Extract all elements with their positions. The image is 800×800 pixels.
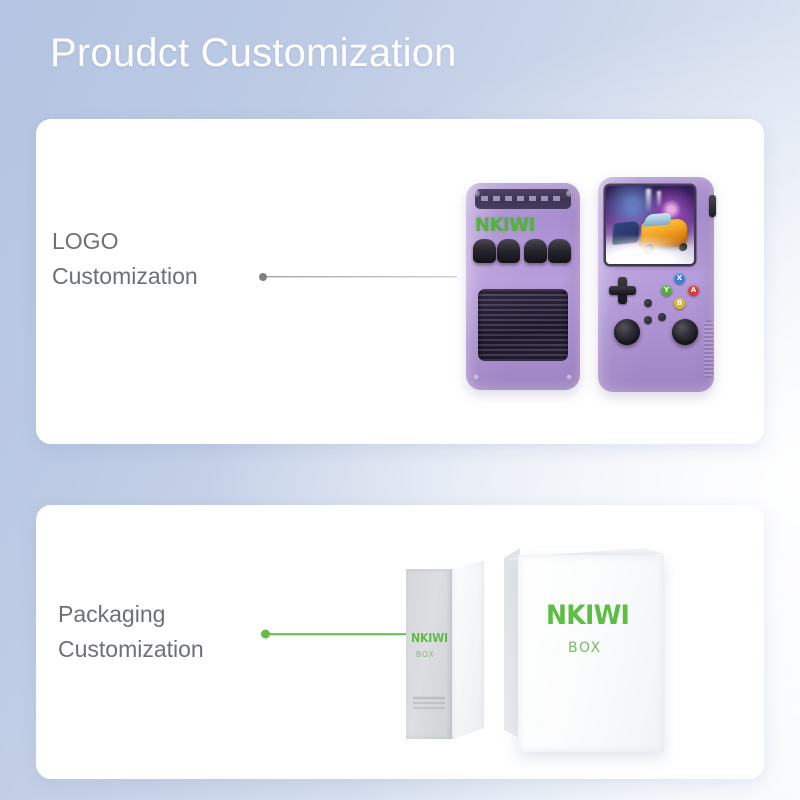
connector-logo bbox=[259, 270, 457, 284]
start-button bbox=[644, 316, 652, 324]
connector-logo-line bbox=[264, 276, 457, 277]
button-x: X bbox=[674, 273, 685, 284]
console-product-group: NKIWI bbox=[452, 173, 720, 401]
label-logo-line1: LOGO bbox=[52, 224, 198, 259]
label-packaging-customization: Packaging Customization bbox=[58, 597, 204, 667]
connector-packaging bbox=[261, 627, 413, 641]
page-title: Proudct Customization bbox=[50, 31, 457, 76]
small-box-side-panel bbox=[452, 561, 484, 739]
screen-game-artwork bbox=[606, 186, 694, 264]
console-front-unit: X Y A B bbox=[598, 177, 714, 392]
label-packaging-line1: Packaging bbox=[58, 597, 204, 632]
screw-bottom-right bbox=[566, 374, 573, 381]
analog-stick-right bbox=[672, 319, 698, 345]
screw-top-right bbox=[566, 190, 573, 197]
side-shoulder-button bbox=[709, 195, 716, 217]
small-box-logo-text: NKIWI bbox=[411, 631, 448, 645]
console-back-unit: NKIWI bbox=[466, 183, 580, 390]
analog-stick-left bbox=[614, 319, 640, 345]
small-box-fine-print bbox=[413, 697, 445, 710]
small-box-subtitle: BOX bbox=[416, 650, 435, 659]
console-screen bbox=[606, 186, 694, 264]
screw-bottom-left bbox=[473, 374, 480, 381]
package-box-small: NKIWI BOX bbox=[406, 569, 484, 739]
neon-streak-a bbox=[646, 189, 651, 212]
connector-packaging-line bbox=[266, 633, 413, 635]
screw-top-left bbox=[473, 190, 480, 197]
select-button bbox=[658, 313, 666, 321]
button-b: B bbox=[674, 298, 685, 309]
button-a: A bbox=[688, 285, 699, 296]
packaging-product-group: NKIWI BOX NKIWI BOX bbox=[396, 548, 686, 758]
console-control-area: X Y A B bbox=[598, 269, 714, 387]
package-box-large: NKIWI BOX bbox=[504, 548, 664, 752]
neon-streak-b bbox=[657, 191, 661, 210]
large-box-logo-text: NKIWI bbox=[546, 600, 629, 631]
label-logo-customization: LOGO Customization bbox=[52, 224, 198, 294]
face-button-group: X Y A B bbox=[658, 273, 702, 315]
game-snow-effect bbox=[606, 236, 694, 264]
dpad-icon bbox=[609, 277, 636, 304]
console-screw-group bbox=[466, 183, 580, 390]
large-box-subtitle: BOX bbox=[568, 640, 602, 656]
menu-button bbox=[644, 299, 652, 307]
product-customization-infographic: Proudct Customization LOGO Customization… bbox=[0, 0, 800, 800]
label-logo-line2: Customization bbox=[52, 259, 198, 294]
button-y: Y bbox=[661, 285, 672, 296]
label-packaging-line2: Customization bbox=[58, 632, 204, 667]
